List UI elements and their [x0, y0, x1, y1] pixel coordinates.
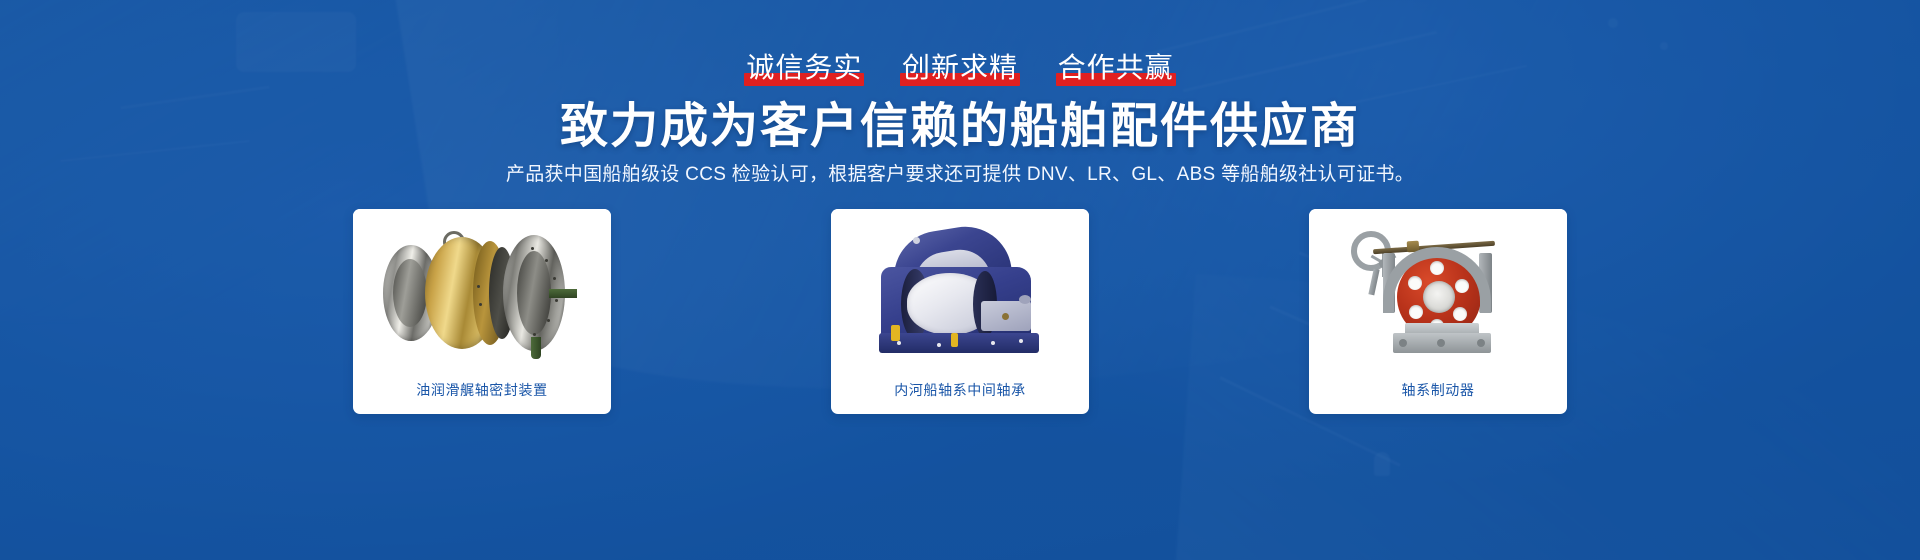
seal-assembly-illustration	[381, 233, 581, 351]
bolt	[531, 247, 534, 250]
caliper-yoke	[1383, 247, 1491, 313]
product-card-2[interactable]: 内河船轴系中间轴承	[831, 209, 1089, 414]
bolt	[1019, 339, 1023, 343]
bolt	[547, 319, 550, 322]
bolt	[545, 259, 548, 262]
oil-lubricated-stern-shaft-seal-photo	[353, 209, 611, 369]
tagline-group-3: 合作共赢	[1056, 48, 1176, 88]
product-card-1-label: 油润滑艉轴密封装置	[353, 380, 611, 400]
bolt	[477, 285, 480, 288]
bolt	[937, 343, 941, 347]
bolt	[479, 303, 482, 306]
tagline-group-2-text: 创新求精	[902, 52, 1018, 83]
steel-bore-rear	[517, 251, 551, 335]
bearing-base-foot	[879, 333, 1039, 353]
tagline-group-2: 创新求精	[900, 48, 1020, 88]
page-subtitle: 产品获中国船舶级设 CCS 检验认可，根据客户要求还可提供 DNV、LR、GL、…	[0, 160, 1920, 190]
inspection-plate	[981, 301, 1031, 331]
product-card-3-label: 轴系制动器	[1309, 380, 1567, 400]
plate-knob	[1002, 313, 1009, 320]
base-bolt	[1477, 339, 1485, 347]
shafting-brake-photo	[1309, 209, 1567, 369]
shafting-brake-illustration	[1345, 225, 1531, 357]
green-bracket-bottom	[531, 337, 541, 359]
steel-bore-front	[393, 259, 427, 327]
base-bolt	[1437, 339, 1445, 347]
cap-pin	[913, 237, 920, 244]
page-title: 致力成为客户信赖的船舶配件供应商	[0, 96, 1920, 158]
intermediate-bearing-illustration	[873, 229, 1049, 355]
product-card-list: 油润滑艉轴密封装置	[353, 209, 1567, 414]
bolt	[897, 341, 901, 345]
product-card-3[interactable]: 轴系制动器	[1309, 209, 1567, 414]
tagline-group-1-text: 诚信务实	[746, 52, 862, 83]
green-bracket-right	[549, 289, 577, 298]
banner-content: 诚信务实 创新求精 合作共赢 致力成为客户信赖的船舶配件供应商 产品获中国船舶级…	[0, 0, 1920, 560]
bolt	[553, 277, 556, 280]
yellow-marker-left	[891, 325, 900, 341]
yellow-marker-center	[951, 333, 958, 347]
handwheel-stem	[1368, 269, 1379, 296]
product-card-1[interactable]: 油润滑艉轴密封装置	[353, 209, 611, 414]
base-bolt	[1399, 339, 1407, 347]
product-card-2-label: 内河船轴系中间轴承	[831, 380, 1089, 400]
tagline-group-3-text: 合作共赢	[1058, 52, 1174, 83]
brake-base-plate	[1393, 333, 1491, 353]
tagline: 诚信务实 创新求精 合作共赢	[0, 48, 1920, 88]
inland-vessel-intermediate-bearing-photo	[831, 209, 1089, 369]
hero-banner: 诚信务实 创新求精 合作共赢 致力成为客户信赖的船舶配件供应商 产品获中国船舶级…	[0, 0, 1920, 560]
bolt	[555, 299, 558, 302]
bolt	[991, 341, 995, 345]
tagline-group-1: 诚信务实	[744, 48, 864, 88]
grease-fitting	[1019, 295, 1031, 304]
bolt	[533, 333, 536, 336]
